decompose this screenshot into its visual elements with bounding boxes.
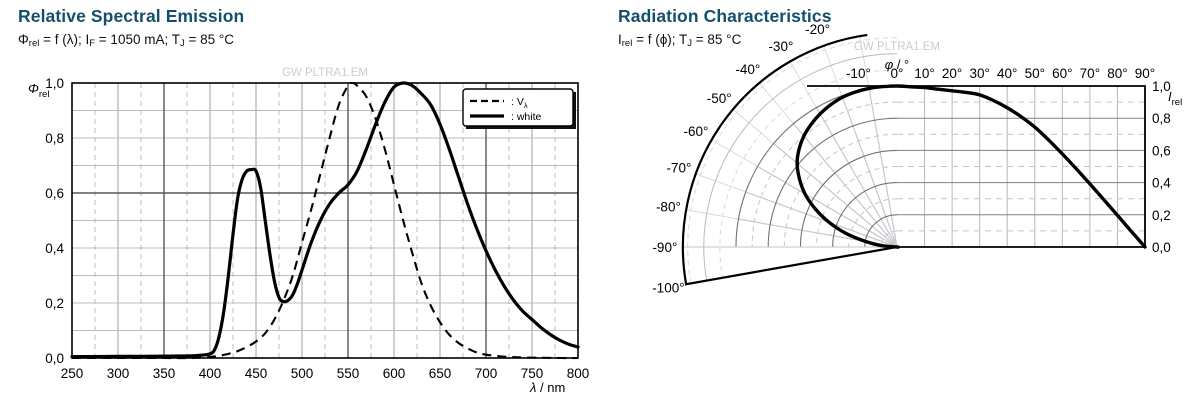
svg-text:20°: 20° xyxy=(942,66,962,81)
svg-text:0,4: 0,4 xyxy=(45,241,64,256)
svg-text:-20°: -20° xyxy=(805,22,830,37)
svg-text:80°: 80° xyxy=(1107,66,1127,81)
right-angle-tick-labels-cartesian: 0°10°20°30°40°50°60°70°80°90° xyxy=(891,66,1156,81)
svg-text:-100°: -100° xyxy=(652,280,684,295)
svg-text:300: 300 xyxy=(107,366,130,381)
svg-text:-60°: -60° xyxy=(684,124,709,139)
svg-text:-10°: -10° xyxy=(846,66,871,81)
svg-text:550: 550 xyxy=(337,366,360,381)
svg-text:0,6: 0,6 xyxy=(1152,143,1171,158)
right-cartesian-gridlines xyxy=(897,86,1145,247)
svg-text:750: 750 xyxy=(521,366,544,381)
svg-text:-30°: -30° xyxy=(768,39,793,54)
relative-spectral-emission-panel: Relative Spectral Emission Φrel = f (λ);… xyxy=(0,0,600,402)
left-y-tick-labels: 0,00,20,40,60,81,0 xyxy=(45,76,64,366)
left-chart-svg: GW PLTRA1.EM 0,00,20,40,60,81,0 25030035… xyxy=(0,0,600,402)
radiation-characteristics-panel: Radiation Characteristics Irel = f (ϕ); … xyxy=(600,0,1200,402)
svg-text:0,8: 0,8 xyxy=(45,131,64,146)
svg-text:-40°: -40° xyxy=(735,62,760,77)
right-radial-axis-title: Irel xyxy=(1168,89,1182,108)
figure-page: Relative Spectral Emission Φrel = f (λ);… xyxy=(0,0,1200,402)
svg-text:450: 450 xyxy=(245,366,268,381)
right-watermark: GW PLTRA1.EM xyxy=(854,41,940,53)
svg-text:350: 350 xyxy=(153,366,176,381)
left-x-tick-labels: 250300350400450500550600650700750800 xyxy=(61,366,590,381)
svg-text:0,0: 0,0 xyxy=(1152,240,1171,255)
svg-text:800: 800 xyxy=(567,366,590,381)
svg-text:-90°: -90° xyxy=(652,240,677,255)
svg-text:60°: 60° xyxy=(1052,66,1072,81)
svg-text:0,4: 0,4 xyxy=(1152,176,1171,191)
legend-label-white: : white xyxy=(511,111,542,123)
svg-text:0°: 0° xyxy=(891,66,904,81)
svg-text:30°: 30° xyxy=(969,66,989,81)
svg-text:-50°: -50° xyxy=(707,91,732,106)
svg-text:-70°: -70° xyxy=(666,161,691,176)
left-x-axis-title: λ / nm xyxy=(529,380,565,395)
svg-text:0,2: 0,2 xyxy=(1152,208,1171,223)
left-legend: : Vλ : white xyxy=(463,89,576,129)
svg-text:0,8: 0,8 xyxy=(1152,111,1171,126)
svg-text:500: 500 xyxy=(291,366,314,381)
svg-text:10°: 10° xyxy=(914,66,934,81)
svg-text:70°: 70° xyxy=(1080,66,1100,81)
svg-text:400: 400 xyxy=(199,366,222,381)
right-radial-tick-labels: 0,00,20,40,60,81,0 xyxy=(1152,79,1171,255)
svg-text:650: 650 xyxy=(429,366,452,381)
svg-text:50°: 50° xyxy=(1025,66,1045,81)
svg-text:250: 250 xyxy=(61,366,84,381)
svg-text:0,0: 0,0 xyxy=(45,351,64,366)
svg-text:0,6: 0,6 xyxy=(45,186,64,201)
svg-text:700: 700 xyxy=(475,366,498,381)
svg-text:40°: 40° xyxy=(997,66,1017,81)
left-watermark: GW PLTRA1.EM xyxy=(282,67,368,79)
svg-text:0,2: 0,2 xyxy=(45,296,64,311)
svg-text:-80°: -80° xyxy=(656,200,681,215)
right-chart-svg: GW PLTRA1.EM φ / ° 0°10°20°30°40°50°60°7… xyxy=(600,0,1200,402)
svg-text:600: 600 xyxy=(383,366,406,381)
